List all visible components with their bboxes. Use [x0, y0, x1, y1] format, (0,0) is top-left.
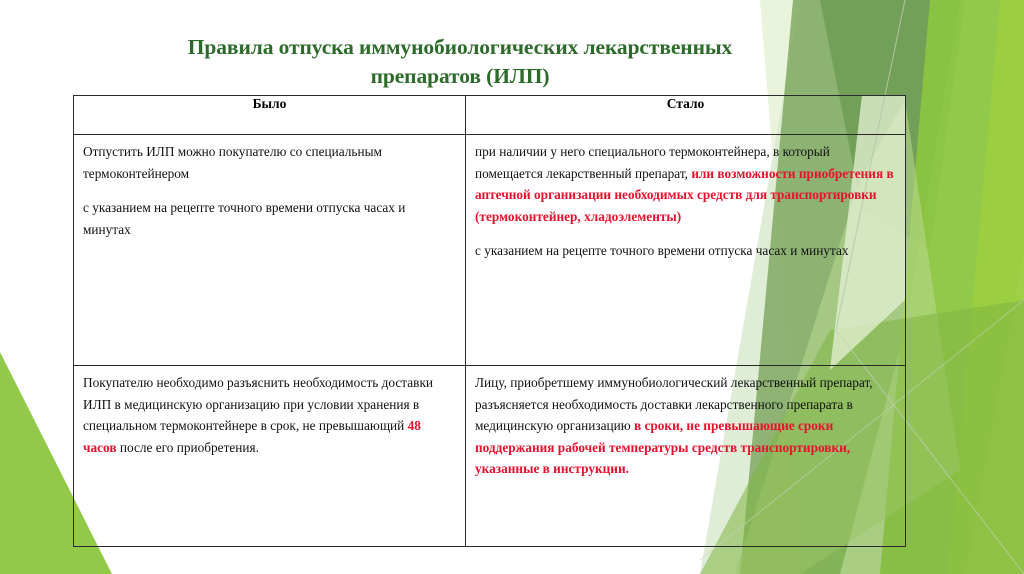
cell-row1-before-content: Отпустить ИЛП можно покупателю со специа… [74, 135, 465, 246]
column-header-after: Стало [466, 96, 906, 135]
cell-row2-before: Покупателю необходимо разъяснить необход… [74, 366, 466, 547]
right-strip-yellowgreen [948, 0, 1024, 574]
cell-row2-before-content: Покупателю необходимо разъяснить необход… [74, 366, 465, 464]
cell-paragraph: с указанием на рецепте точного времени о… [83, 197, 456, 240]
body-text: с указанием на рецепте точного времени о… [83, 200, 405, 237]
table-row: Отпустить ИЛП можно покупателю со специа… [74, 135, 906, 366]
cell-row2-after-content: Лицу, приобретшему иммунобиологический л… [466, 366, 905, 486]
column-header-before: Было [74, 96, 466, 135]
cell-paragraph: Отпустить ИЛП можно покупателю со специа… [83, 141, 456, 184]
comparison-table: Было Стало Отпустить ИЛП можно покупател… [73, 95, 906, 547]
cell-paragraph: с указанием на рецепте точного времени о… [475, 240, 896, 262]
paragraph-gap [83, 184, 456, 197]
cell-row1-before: Отпустить ИЛП можно покупателю со специа… [74, 135, 466, 366]
body-text: с указанием на рецепте точного времени о… [475, 243, 849, 258]
page-title-line-1: Правила отпуска иммунобиологических лека… [90, 33, 830, 62]
comparison-table-wrapper: Было Стало Отпустить ИЛП можно покупател… [73, 95, 905, 507]
paragraph-gap [475, 227, 896, 240]
body-text: Покупателю необходимо разъяснить необход… [83, 375, 433, 433]
cell-row1-after-content: при наличии у него специального термокон… [466, 135, 905, 268]
table-row: Покупателю необходимо разъяснить необход… [74, 366, 906, 547]
body-text: после его приобретения. [117, 440, 259, 455]
cell-paragraph: Покупателю необходимо разъяснить необход… [83, 372, 456, 458]
page-title: Правила отпуска иммунобиологических лека… [90, 33, 830, 91]
cell-row2-after: Лицу, приобретшему иммунобиологический л… [466, 366, 906, 547]
cell-row1-after: при наличии у него специального термокон… [466, 135, 906, 366]
slide-canvas: Правила отпуска иммунобиологических лека… [0, 0, 1024, 574]
table-header-row: Было Стало [74, 96, 906, 135]
cell-paragraph: при наличии у него специального термокон… [475, 141, 896, 227]
page-title-line-2: препаратов (ИЛП) [90, 62, 830, 91]
cell-paragraph: Лицу, приобретшему иммунобиологический л… [475, 372, 896, 480]
body-text: Отпустить ИЛП можно покупателю со специа… [83, 144, 382, 181]
